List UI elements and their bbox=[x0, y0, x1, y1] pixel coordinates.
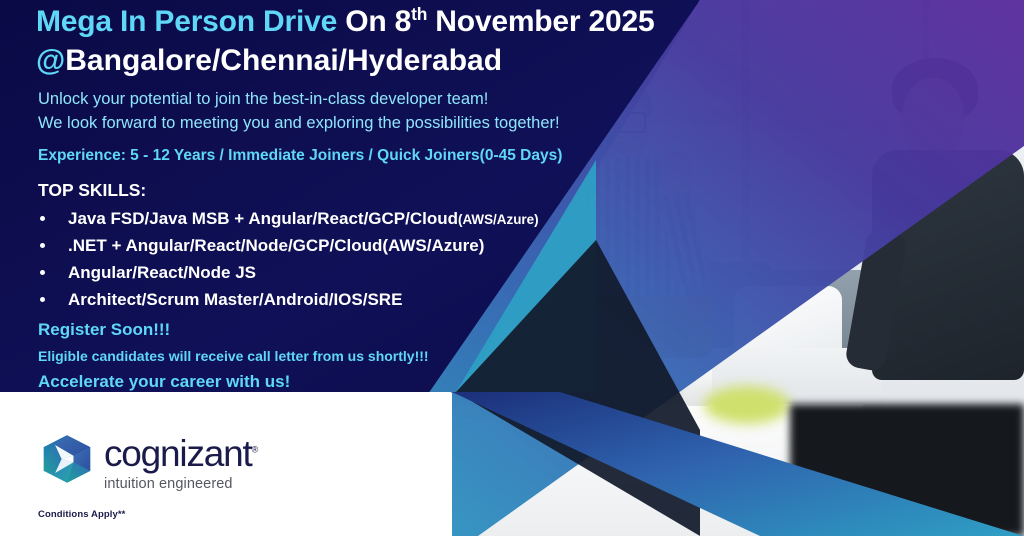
bullet-icon bbox=[40, 243, 45, 248]
registered-trademark-icon: ® bbox=[252, 445, 257, 455]
eligibility-note: Eligible candidates will receive call le… bbox=[38, 348, 429, 364]
bullet-icon bbox=[40, 297, 45, 302]
page-title: Mega In Person Drive On 8th November 202… bbox=[36, 4, 654, 41]
skill-suffix: (AWS/Azure) bbox=[458, 212, 539, 227]
cognizant-word-text: cognizant bbox=[104, 433, 252, 474]
cognizant-tagline: intuition engineered bbox=[104, 476, 257, 492]
accelerate-tagline: Accelerate your career with us! bbox=[38, 372, 290, 392]
cognizant-cube-icon bbox=[40, 432, 94, 486]
conditions-apply-note: Conditions Apply** bbox=[38, 509, 125, 520]
at-symbol: @ bbox=[36, 44, 65, 77]
list-item: Angular/React/Node JS bbox=[38, 259, 539, 286]
list-item: .NET + Angular/React/Node/GCP/Cloud(AWS/… bbox=[38, 232, 539, 259]
skills-list: Java FSD/Java MSB + Angular/React/GCP/Cl… bbox=[38, 205, 539, 313]
headline-date-prefix: On 8 bbox=[337, 5, 411, 38]
cognizant-wordmark: cognizant® bbox=[104, 435, 257, 472]
experience-requirements: Experience: 5 - 12 Years / Immediate Joi… bbox=[38, 147, 562, 165]
skill-text: Angular/React/Node JS bbox=[68, 263, 256, 282]
top-skills-heading: TOP SKILLS: bbox=[38, 180, 146, 201]
skill-text: .NET + Angular/React/Node/GCP/Cloud(AWS/… bbox=[68, 236, 484, 255]
headline-highlight: Mega In Person Drive bbox=[36, 5, 337, 38]
list-item: Java FSD/Java MSB + Angular/React/GCP/Cl… bbox=[38, 205, 539, 232]
recruitment-banner: Mega In Person Drive On 8th November 202… bbox=[0, 0, 1024, 536]
bullet-icon bbox=[40, 270, 45, 275]
subtitle-line-1: Unlock your potential to join the best-i… bbox=[38, 90, 488, 109]
register-call-to-action: Register Soon!!! bbox=[38, 320, 170, 340]
list-item: Architect/Scrum Master/Android/IOS/SRE bbox=[38, 286, 539, 313]
bullet-icon bbox=[40, 216, 45, 221]
banner-content: Mega In Person Drive On 8th November 202… bbox=[0, 0, 1024, 536]
locations-text: Bangalore/Chennai/Hyderabad bbox=[65, 44, 502, 77]
cognizant-logo: cognizant® intuition engineered bbox=[40, 432, 257, 492]
cognizant-wordmark-block: cognizant® intuition engineered bbox=[104, 432, 257, 492]
page-subtitle-locations: @Bangalore/Chennai/Hyderabad bbox=[36, 44, 502, 78]
headline-date-suffix: November 2025 bbox=[427, 5, 654, 38]
skill-text: Architect/Scrum Master/Android/IOS/SRE bbox=[68, 290, 402, 309]
skill-text: Java FSD/Java MSB + Angular/React/GCP/Cl… bbox=[68, 209, 458, 228]
headline-date-superscript: th bbox=[411, 4, 427, 24]
subtitle-line-2: We look forward to meeting you and explo… bbox=[38, 114, 560, 133]
